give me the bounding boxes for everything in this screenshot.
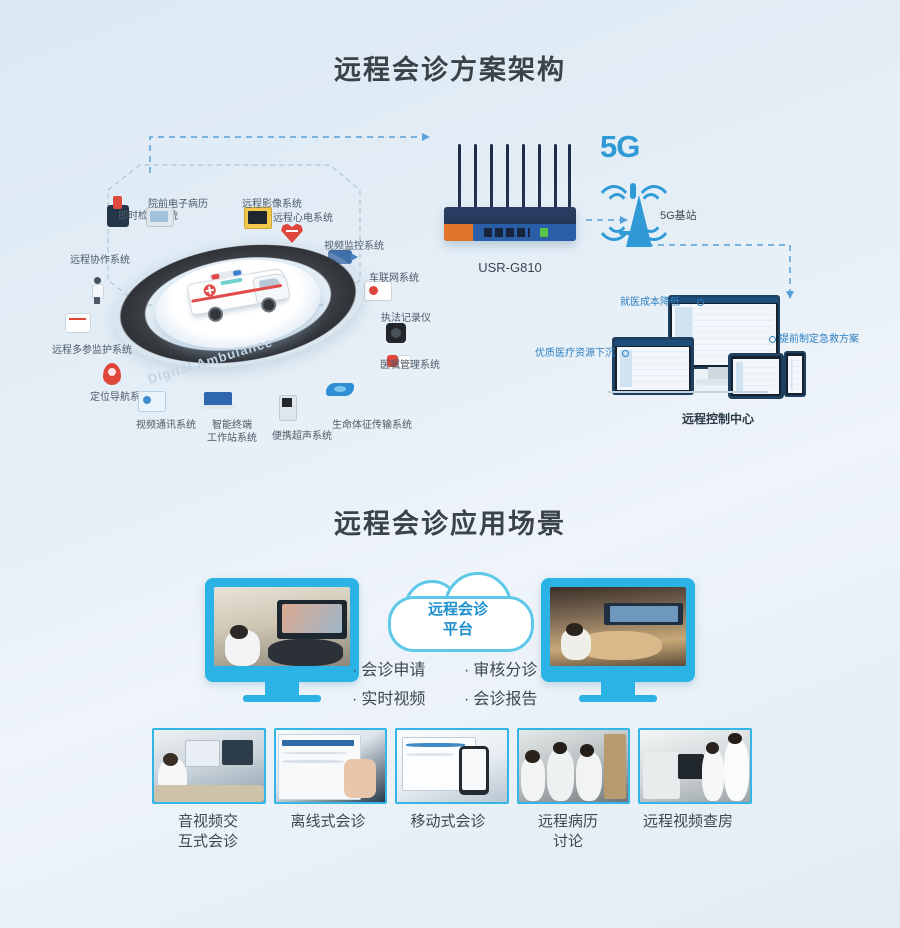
thumbnail-offline[interactable] — [274, 728, 388, 804]
medical-equipment — [643, 752, 680, 800]
caption-mobile: 移动式会诊 — [392, 812, 504, 851]
router-illustration — [440, 125, 580, 255]
feature-item: 会诊申请 — [352, 656, 456, 680]
5g-text: 5G — [600, 129, 639, 165]
callout-dot-icon — [769, 336, 776, 343]
scenario-thumbnail-row — [152, 728, 752, 804]
antenna-icon — [490, 144, 493, 209]
cloud-label-line2: 平台 — [443, 621, 473, 638]
laptop-screen — [612, 337, 694, 395]
consultation-hall-photo — [550, 587, 686, 666]
benefit-plan-ahead: 提前制定急救方案 — [779, 334, 859, 347]
dashboard-charts — [736, 362, 776, 391]
doctor — [724, 739, 749, 801]
antenna-icon — [458, 144, 461, 209]
label-video-monitor: 视频监控系统 — [324, 241, 384, 254]
wall-monitor — [185, 740, 220, 766]
benefit-resource-sink: 优质医疗资源下沉 — [535, 348, 615, 361]
door-frame — [604, 734, 626, 799]
video-feed — [610, 606, 678, 622]
antenna-icon — [538, 144, 541, 209]
dashboard-charts — [791, 359, 799, 390]
caption-video-rounds: 远程视频查房 — [632, 812, 744, 851]
scenarios-section: 远程会诊 平台 会诊申请 审核分诊 实时视频 会诊报告 — [0, 560, 900, 920]
monitor-foot — [579, 695, 657, 702]
label-remote-imaging: 远程影像系统 — [242, 199, 302, 212]
tower-crossbar — [619, 231, 647, 235]
phone-screen — [462, 749, 486, 789]
person-head — [706, 742, 719, 754]
cloud-label-line1: 远程会诊 — [428, 601, 488, 618]
label-5g-base-station: 5G基站 — [660, 210, 697, 224]
thumbnail-video-rounds[interactable] — [638, 728, 752, 804]
feature-item: 实时视频 — [352, 685, 456, 709]
data-row — [406, 753, 454, 756]
figure-head — [94, 277, 101, 284]
caption-offline: 离线式会诊 — [272, 812, 384, 851]
wall-monitor — [222, 740, 253, 764]
router-label: USR-G810 — [478, 260, 542, 276]
label-remote-ecg: 远程心电系统 — [273, 213, 333, 226]
page-root: 远程会诊方案架构 即时检验系统 院前电子病历 远程影像系统 — [0, 0, 900, 928]
video-feed — [282, 604, 342, 632]
label-control-center: 远程控制中心 — [682, 412, 754, 427]
benefit-cost-down: 就医成本降低 — [620, 297, 680, 310]
desk — [154, 785, 264, 802]
pointing-hand — [344, 759, 377, 798]
equipment-display — [678, 754, 704, 778]
feature-item: 审核分诊 — [464, 656, 568, 680]
scenario-caption-row: 音视频交 互式会诊 离线式会诊 移动式会诊 远程病历 讨论 远程视频查房 — [152, 812, 752, 851]
label-vital-transfer: 生命体征传输系统 — [332, 420, 412, 433]
label-order-management: 医嘱管理系统 — [380, 360, 440, 373]
screen-content — [733, 359, 779, 394]
foreground-seats — [268, 639, 343, 666]
video-call-icon — [138, 391, 166, 412]
monitor-foot — [243, 695, 321, 702]
label-video-comm: 视频通讯系统 — [136, 420, 196, 433]
architecture-diagram: 即时检验系统 院前电子病历 远程影像系统 远程心电系统 视频监控系统 车联网系统… — [0, 95, 900, 485]
doctor — [576, 752, 602, 801]
tower-mast — [626, 195, 652, 247]
label-remote-collab: 远程协作系统 — [70, 255, 130, 268]
antenna-icon — [568, 144, 571, 209]
doctor — [547, 749, 573, 801]
screen-titlebar — [670, 297, 778, 303]
screen-titlebar — [615, 340, 691, 346]
vital-sensor-icon — [326, 383, 354, 396]
label-portable-ultrasound: 便携超声系统 — [272, 431, 332, 444]
label-multi-param-care: 远程多参监护系统 — [52, 345, 132, 358]
thumbnail-av-interactive[interactable] — [152, 728, 266, 804]
doctor — [702, 749, 724, 801]
app-header — [282, 740, 354, 746]
caption-av-interactive: 音视频交 互式会诊 — [152, 812, 264, 851]
desk-surface — [608, 391, 768, 393]
doctor-figure-1 — [92, 277, 102, 303]
antenna-icon — [554, 144, 557, 209]
scenario-monitor-left — [205, 578, 359, 682]
monitor-neck — [601, 682, 635, 696]
person-head — [525, 750, 539, 763]
ultrasound-icon — [279, 395, 297, 421]
callout-dot-icon — [622, 350, 629, 357]
label-telematics: 车联网系统 — [369, 273, 419, 286]
feature-item: 会诊报告 — [464, 685, 568, 709]
scenarios-title: 远程会诊应用场景 — [0, 502, 900, 541]
5g-tower-illustration: 5G — [586, 135, 676, 265]
architecture-title: 远程会诊方案架构 — [0, 48, 900, 87]
figure-legs — [94, 297, 100, 304]
antenna-icon — [474, 144, 477, 209]
status-led — [540, 228, 548, 237]
data-row — [282, 760, 343, 763]
thumbnail-emr-discussion[interactable] — [517, 728, 631, 804]
router-chassis — [444, 207, 576, 241]
control-center-illustration — [612, 295, 822, 425]
platform-cloud: 远程会诊 平台 — [388, 578, 528, 650]
label-prehospital-emr: 院前电子病历 — [148, 199, 208, 212]
patient-monitor-icon — [65, 313, 91, 333]
dashboard-charts — [620, 350, 686, 387]
thumbnail-mobile[interactable] — [395, 728, 509, 804]
phone-screen — [784, 351, 806, 397]
caption-emr-discussion: 远程病历 讨论 — [512, 812, 624, 851]
antenna-icon — [522, 144, 525, 209]
ethernet-ports-icon — [484, 228, 530, 237]
antenna-icon — [506, 144, 509, 209]
app-header — [406, 743, 465, 747]
platform-feature-list: 会诊申请 审核分诊 实时视频 会诊报告 — [352, 656, 568, 709]
label-smart-workstation: 智能终端 工作站系统 — [207, 420, 257, 445]
person-head — [230, 625, 248, 639]
callout-dot-icon — [697, 299, 704, 306]
cloud-label: 远程会诊 平台 — [388, 600, 528, 641]
monitor-neck — [265, 682, 299, 696]
map-pin-icon — [103, 363, 121, 385]
screen-content — [788, 356, 802, 393]
conference-room-photo — [214, 587, 350, 666]
body-camera-icon — [386, 323, 406, 343]
label-law-recorder: 执法记录仪 — [381, 313, 431, 326]
person-head — [566, 623, 582, 636]
person-head — [163, 753, 178, 766]
laptop-icon — [204, 392, 232, 408]
